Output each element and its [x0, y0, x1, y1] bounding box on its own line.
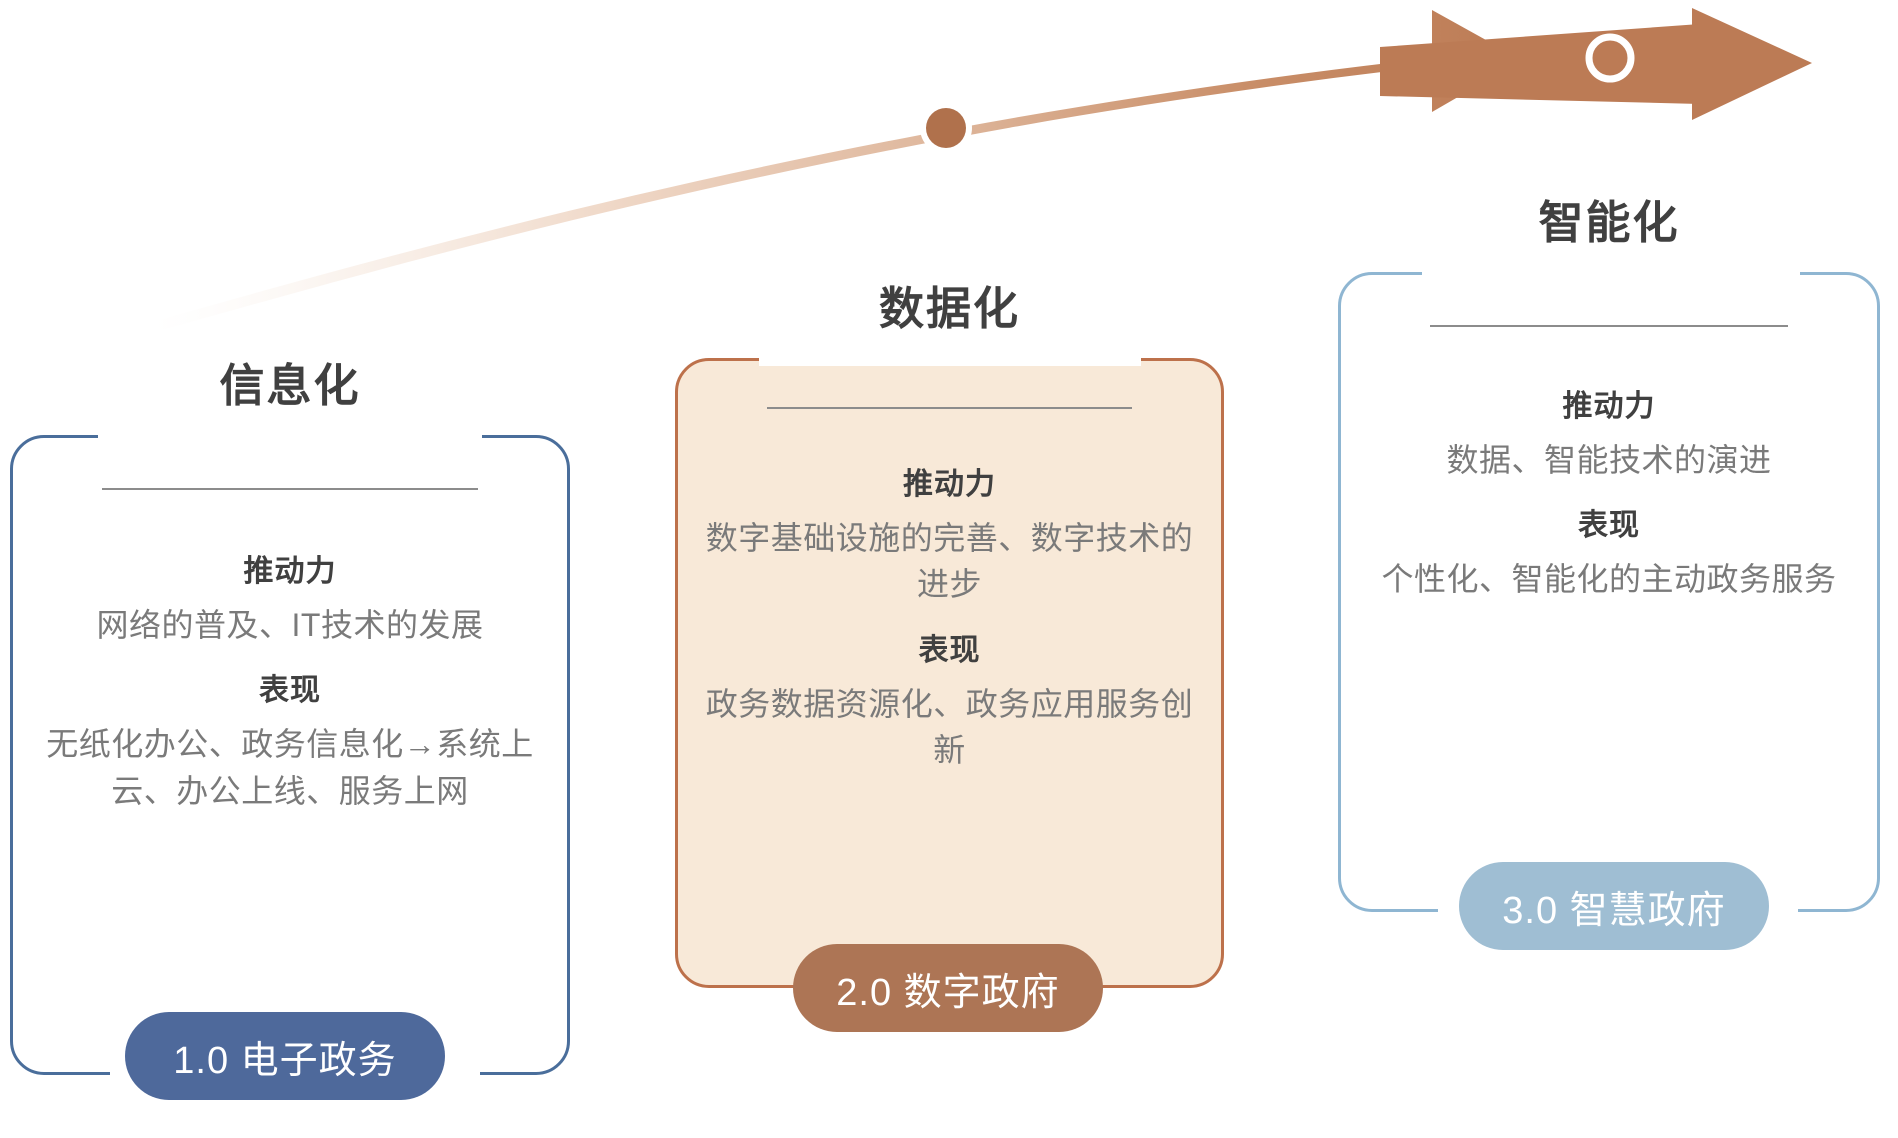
- card-content: 推动力 数据、智能技术的演进 表现 个性化、智能化的主动政务服务: [1338, 390, 1880, 603]
- manifestation-text: 无纸化办公、政务信息化→系统上云、办公上线、服务上网: [32, 721, 548, 814]
- diagram-canvas: 信息化 推动力 网络的普及、IT技术的发展 表现 无纸化办公、政务信息化→系统上…: [0, 0, 1898, 1138]
- arrow-shaft-tip: [1380, 24, 1700, 104]
- card-title-datafication: 数据化: [675, 286, 1224, 331]
- card-content: 推动力 网络的普及、IT技术的发展 表现 无纸化办公、政务信息化→系统上云、办公…: [10, 555, 570, 814]
- manifestation-text: 个性化、智能化的主动政务服务: [1360, 556, 1858, 602]
- driver-section: 推动力 数字基础设施的完善、数字技术的进步: [697, 468, 1202, 608]
- driver-text: 数字基础设施的完善、数字技术的进步: [697, 515, 1202, 608]
- card-content: 推动力 数字基础设施的完善、数字技术的进步 表现 政务数据资源化、政务应用服务创…: [675, 468, 1224, 774]
- driver-section: 推动力 数据、智能技术的演进: [1360, 390, 1858, 483]
- stage-marker-filled-ring: [920, 102, 972, 154]
- title-divider: [102, 488, 478, 490]
- card-title-informatization: 信息化: [10, 363, 570, 408]
- manifestation-label: 表现: [1360, 509, 1858, 542]
- stage-card-datafication[interactable]: 数据化 推动力 数字基础设施的完善、数字技术的进步 表现 政务数据资源化、政务应…: [675, 358, 1224, 988]
- manifestation-section: 表现 政务数据资源化、政务应用服务创新: [697, 634, 1202, 774]
- driver-section: 推动力 网络的普及、IT技术的发展: [32, 555, 548, 648]
- arrow-shaft: [152, 10, 1522, 330]
- manifestation-section: 表现 个性化、智能化的主动政务服务: [1360, 509, 1858, 602]
- title-divider: [767, 407, 1132, 409]
- stage-marker-hollow: [1589, 37, 1631, 79]
- stage-badge-2[interactable]: 2.0 数字政府: [793, 944, 1103, 1032]
- stage-card-intelligentization[interactable]: 智能化 推动力 数据、智能技术的演进 表现 个性化、智能化的主动政务服务: [1338, 272, 1880, 912]
- manifestation-label: 表现: [697, 634, 1202, 667]
- stage-marker-filled: [926, 108, 966, 148]
- stage-card-informatization[interactable]: 信息化 推动力 网络的普及、IT技术的发展 表现 无纸化办公、政务信息化→系统上…: [10, 435, 570, 1075]
- stage-badge-3[interactable]: 3.0 智慧政府: [1459, 862, 1769, 950]
- title-divider: [1430, 325, 1788, 327]
- arrow-head: [1692, 8, 1812, 120]
- driver-label: 推动力: [1360, 390, 1858, 423]
- driver-text: 数据、智能技术的演进: [1360, 437, 1858, 483]
- card-title-intelligentization: 智能化: [1338, 200, 1880, 245]
- manifestation-section: 表现 无纸化办公、政务信息化→系统上云、办公上线、服务上网: [32, 674, 548, 814]
- driver-label: 推动力: [697, 468, 1202, 501]
- manifestation-label: 表现: [32, 674, 548, 707]
- manifestation-text: 政务数据资源化、政务应用服务创新: [697, 681, 1202, 774]
- driver-label: 推动力: [32, 555, 548, 588]
- driver-text: 网络的普及、IT技术的发展: [32, 602, 548, 648]
- stage-badge-1[interactable]: 1.0 电子政务: [125, 1012, 445, 1100]
